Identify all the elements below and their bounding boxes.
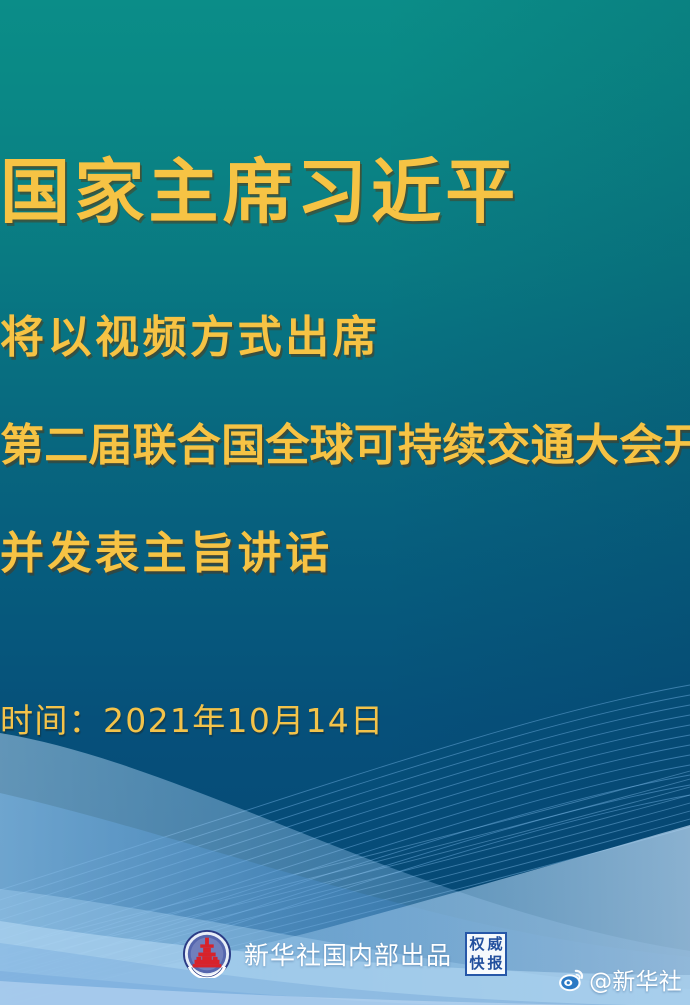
page-title: 国家主席习近平	[0, 152, 690, 232]
weibo-watermark: @新华社	[558, 962, 682, 996]
weibo-handle: @新华社	[589, 962, 682, 996]
subtitle-line-3: 并发表主旨讲话	[0, 528, 690, 580]
subtitle-line-2: 第二届联合国全球可持续交通大会开幕式	[0, 420, 690, 472]
authority-stamp-badge: 权 威 快 报	[465, 932, 507, 976]
stamp-char-2: 威	[486, 935, 504, 954]
weibo-icon	[558, 966, 585, 993]
stamp-char-4: 报	[486, 954, 504, 973]
stamp-char-1: 权	[468, 935, 486, 954]
footer-credit-text: 新华社国内部出品	[244, 936, 452, 972]
subtitle-line-1: 将以视频方式出席	[0, 312, 690, 364]
event-datetime: 时间：2021年10月14日	[0, 700, 690, 742]
xinhua-emblem-icon	[183, 930, 231, 978]
poster-canvas: 国家主席习近平 将以视频方式出席 第二届联合国全球可持续交通大会开幕式 并发表主…	[0, 0, 690, 1005]
stamp-char-3: 快	[468, 954, 486, 973]
